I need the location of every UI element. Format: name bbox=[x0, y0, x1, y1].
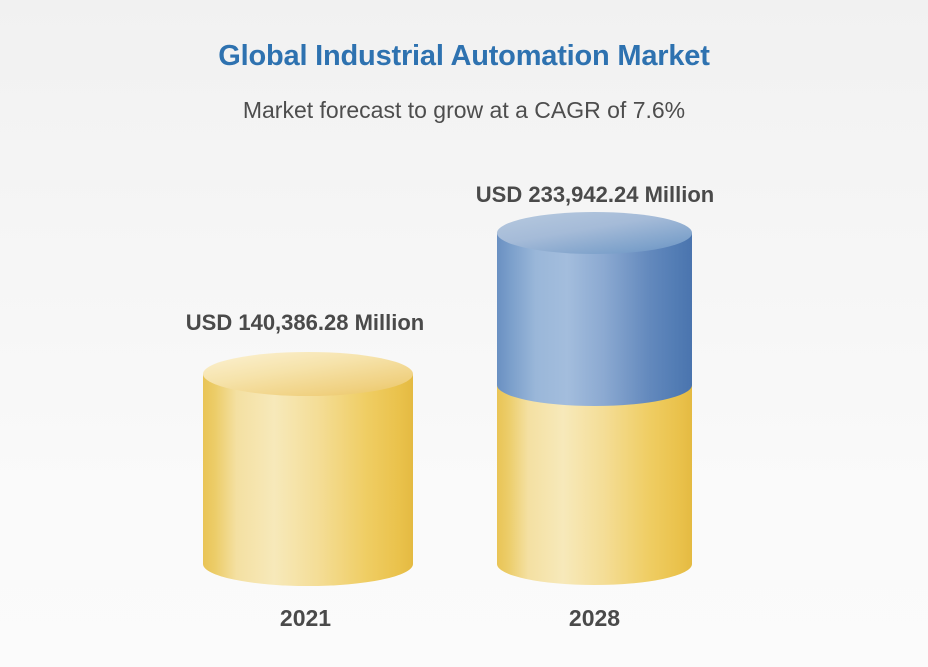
bar-cylinder-2021-graphic bbox=[193, 352, 418, 602]
chart-subtitle: Market forecast to grow at a CAGR of 7.6… bbox=[0, 97, 928, 124]
bar-cylinder-2028-graphic bbox=[487, 222, 702, 602]
axis-label-2021: 2021 bbox=[203, 605, 408, 632]
chart-canvas: Global Industrial Automation Market Mark… bbox=[0, 0, 928, 667]
bar-cylinder-2028 bbox=[487, 222, 702, 602]
bar-cylinder-2021 bbox=[193, 352, 418, 602]
page-title: Global Industrial Automation Market bbox=[0, 40, 928, 73]
data-label-2028: USD 233,942.24 Million bbox=[345, 182, 845, 208]
axis-label-2028: 2028 bbox=[497, 605, 692, 632]
data-label-2021: USD 140,386.28 Million bbox=[55, 310, 555, 336]
